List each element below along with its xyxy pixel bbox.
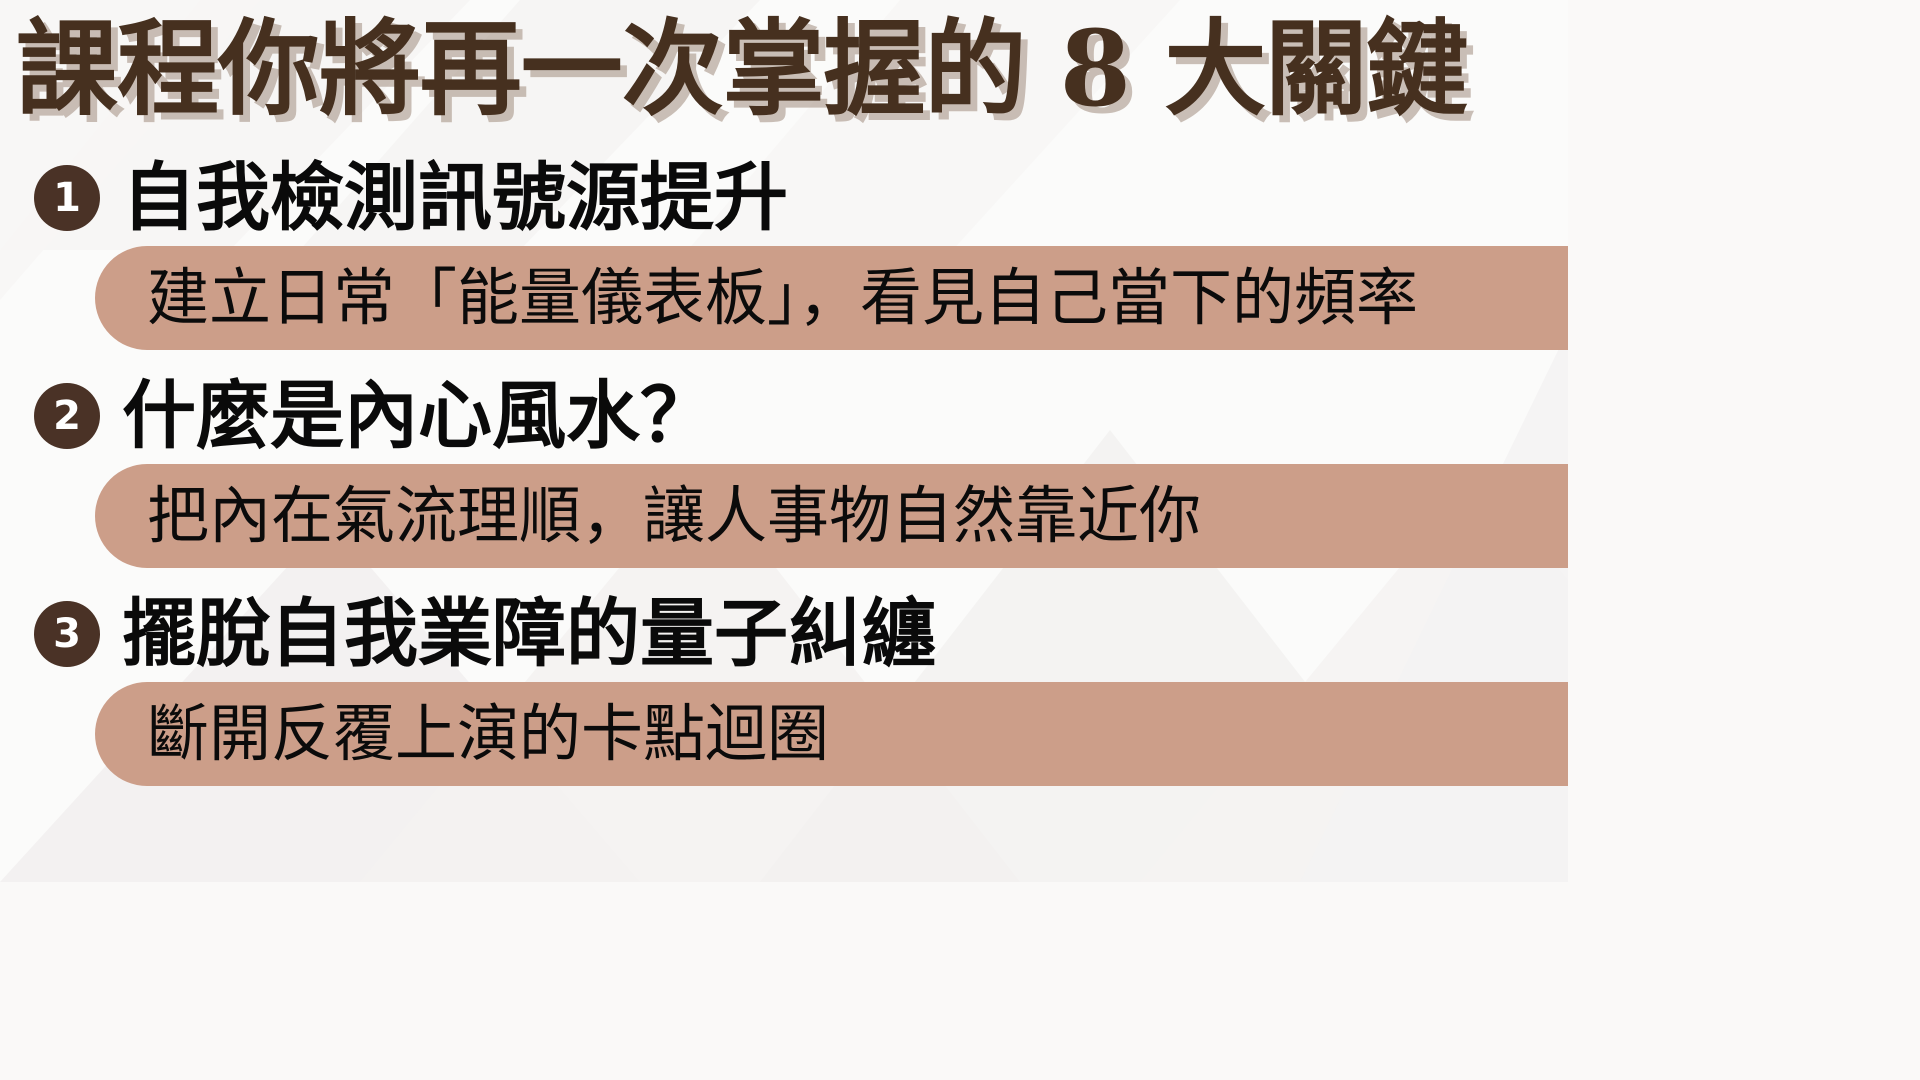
list-item-heading-row: 1 自我檢測訊號源提升 <box>0 150 1568 246</box>
key-points-list: 1 自我檢測訊號源提升 建立日常「能量儀表板」，看見自己當下的頻率 2 什麼是內… <box>0 150 1568 786</box>
item-number-badge: 2 <box>34 383 100 449</box>
item-spacer <box>0 568 1568 586</box>
list-item: 2 什麼是內心風水？ 把內在氣流理順，讓人事物自然靠近你 <box>0 368 1568 568</box>
item-detail-text: 建立日常「能量儀表板」，看見自己當下的頻率 <box>147 267 1418 329</box>
item-detail-pill: 建立日常「能量儀表板」，看見自己當下的頻率 <box>95 246 1568 350</box>
slide-title-container: 課程你將再一次掌握的 8 大關鍵 <box>16 0 1568 144</box>
list-item-heading-row: 3 擺脫自我業障的量子糾纏 <box>0 586 1568 682</box>
item-detail-text: 斷開反覆上演的卡點迴圈 <box>147 703 829 765</box>
item-spacer <box>0 350 1568 368</box>
slide-canvas: 課程你將再一次掌握的 8 大關鍵 1 自我檢測訊號源提升 建立日常「能量儀表板」… <box>0 0 1568 882</box>
item-heading: 自我檢測訊號源提升 <box>122 161 788 235</box>
item-detail-pill: 斷開反覆上演的卡點迴圈 <box>95 682 1568 786</box>
list-item-heading-row: 2 什麼是內心風水？ <box>0 368 1568 464</box>
page-title: 課程你將再一次掌握的 8 大關鍵 <box>16 17 1467 121</box>
item-detail-text: 把內在氣流理順，讓人事物自然靠近你 <box>147 485 1201 547</box>
item-number-badge: 3 <box>34 601 100 667</box>
item-heading: 什麼是內心風水？ <box>122 379 714 453</box>
item-detail-pill: 把內在氣流理順，讓人事物自然靠近你 <box>95 464 1568 568</box>
list-item: 1 自我檢測訊號源提升 建立日常「能量儀表板」，看見自己當下的頻率 <box>0 150 1568 350</box>
item-heading: 擺脫自我業障的量子糾纏 <box>122 597 936 671</box>
list-item: 3 擺脫自我業障的量子糾纏 斷開反覆上演的卡點迴圈 <box>0 586 1568 786</box>
item-number-badge: 1 <box>34 165 100 231</box>
